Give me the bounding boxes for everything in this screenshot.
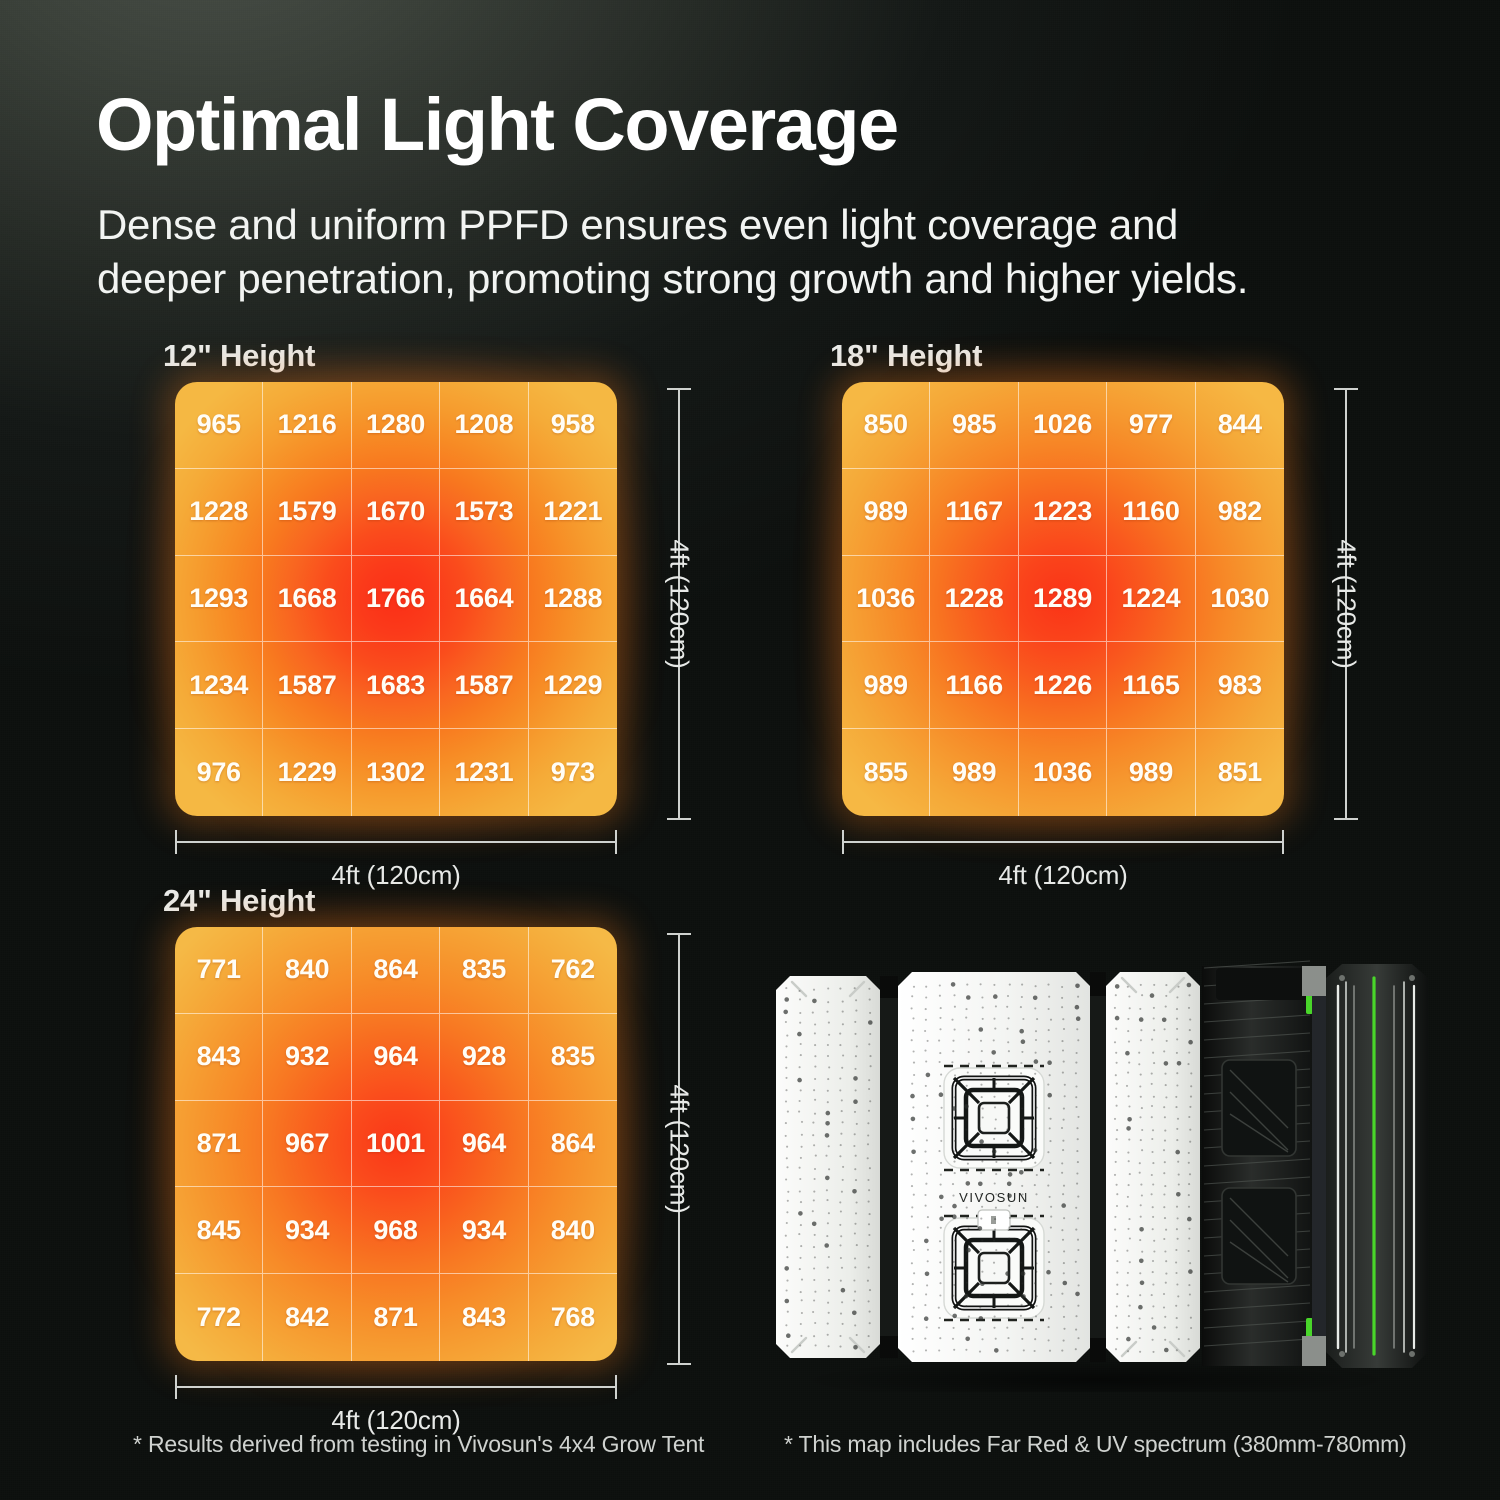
dimension-cap-bottom [667,1363,691,1365]
panel-title-12in: 12" Height [163,338,315,374]
heatmap-cell: 1587 [263,642,351,729]
height-dimension-label-18in: 4ft (120cm) [1331,531,1362,676]
height-dimension-18in: 4ft (120cm) [1316,388,1376,820]
heatmap-cell: 1579 [263,469,351,556]
heatmap-cell: 1216 [263,382,351,469]
heatmap-cell: 982 [1196,469,1284,556]
heatmap-cell: 989 [930,729,1018,816]
heatmap-cell: 968 [352,1187,440,1274]
heatmap-cell: 1229 [263,729,351,816]
heatmap-cell: 973 [529,729,617,816]
heatmap-cell: 864 [529,1101,617,1188]
dimension-cap-bottom [1334,818,1358,820]
heatmap-wrap-18in: 8509851026977844989116712231160982103612… [842,382,1284,816]
heatmap-cell: 840 [263,927,351,1014]
heatmap-cell: 1226 [1019,642,1107,729]
heatmap-cell: 983 [1196,642,1284,729]
heatmap-cell: 1208 [440,382,528,469]
subtitle-line-1: Dense and uniform PPFD ensures even ligh… [97,198,1417,252]
heatmap-cell: 977 [1107,382,1195,469]
heatmap-cell: 967 [263,1101,351,1188]
heatmap-cell: 1036 [842,556,930,643]
heatmap-cell: 1683 [352,642,440,729]
heatmap-cell: 864 [352,927,440,1014]
heatmap-cell: 1228 [930,556,1018,643]
heatmap-cell: 842 [263,1274,351,1361]
heatmap-cell: 1302 [352,729,440,816]
heatmap-cell: 1229 [529,642,617,729]
heatmap-wrap-12in: 9651216128012089581228157916701573122112… [175,382,617,816]
width-dimension-18in: 4ft (120cm) [842,830,1284,854]
heatmap-cell: 843 [440,1274,528,1361]
dimension-cap-bottom [667,818,691,820]
product-brand-label: VIVOSUN [959,1190,1029,1205]
heatmap-cell: 855 [842,729,930,816]
dimension-cap-top [667,388,691,390]
heatmap-cell: 928 [440,1014,528,1101]
heatmap-cell: 772 [175,1274,263,1361]
heatmap-cell: 1664 [440,556,528,643]
heatmap-cell: 958 [529,382,617,469]
width-dimension-12in: 4ft (120cm) [175,830,617,854]
dimension-cap-left [175,1375,177,1399]
heatmap-cell: 835 [529,1014,617,1101]
dimension-cap-left [842,830,844,854]
dimension-cap-right [615,1375,617,1399]
subtitle-line-2: deeper penetration, promoting strong gro… [97,252,1417,306]
heatmap-cell: 1030 [1196,556,1284,643]
heatmap-cell: 851 [1196,729,1284,816]
heatmap-cell: 1026 [1019,382,1107,469]
heatmap-cell: 1036 [1019,729,1107,816]
heatmap-cell: 1280 [352,382,440,469]
height-dimension-24in: 4ft (120cm) [649,933,709,1365]
heatmap-cell: 1668 [263,556,351,643]
heatmap-cell: 843 [175,1014,263,1101]
heatmap-cell: 1587 [440,642,528,729]
width-dimension-24in: 4ft (120cm) [175,1375,617,1399]
dimension-cap-top [667,933,691,935]
heatmap-cell: 1288 [529,556,617,643]
heatmap-cell: 1289 [1019,556,1107,643]
heatmap-grid-18in: 8509851026977844989116712231160982103612… [842,382,1284,816]
heatmap-cell: 1221 [529,469,617,556]
heatmap-cell: 1160 [1107,469,1195,556]
page-subtitle: Dense and uniform PPFD ensures even ligh… [97,198,1417,306]
heatmap-cell: 964 [352,1014,440,1101]
heatmap-cell: 934 [263,1187,351,1274]
heatmap-cell: 989 [842,642,930,729]
width-dimension-label-18in: 4ft (120cm) [998,860,1127,891]
heatmap-cell: 1231 [440,729,528,816]
heatmap-cell: 985 [930,382,1018,469]
dimension-cap-left [175,830,177,854]
page-title: Optimal Light Coverage [96,88,898,162]
panel-title-18in: 18" Height [830,338,982,374]
dimension-line [175,841,617,843]
heatmap-cell: 1001 [352,1101,440,1188]
heatmap-cell: 1228 [175,469,263,556]
heatmap-cell: 965 [175,382,263,469]
heatmap-cell: 1573 [440,469,528,556]
heatmap-cell: 976 [175,729,263,816]
heatmap-grid-24in: 7718408648357628439329649288358719671001… [175,927,617,1361]
heatmap-cell: 934 [440,1187,528,1274]
heatmap-cell: 1224 [1107,556,1195,643]
heatmap-cell: 844 [1196,382,1284,469]
heatmap-cell: 1165 [1107,642,1195,729]
heatmap-cell: 771 [175,927,263,1014]
heatmap-grid-12in: 9651216128012089581228157916701573122112… [175,382,617,816]
heatmap-cell: 989 [842,469,930,556]
height-dimension-label-24in: 4ft (120cm) [664,1076,695,1221]
heatmap-cell: 871 [175,1101,263,1188]
grow-light-illustration: VIVOSUN [746,952,1446,1392]
heatmap-cell: 1766 [352,556,440,643]
note-left: * Results derived from testing in Vivosu… [133,1431,704,1458]
page-root: Optimal Light Coverage Dense and uniform… [0,0,1500,1500]
heatmap-wrap-24in: 7718408648357628439329649288358719671001… [175,927,617,1361]
heatmap-cell: 1167 [930,469,1018,556]
heatmap-cell: 989 [1107,729,1195,816]
heatmap-cell: 835 [440,927,528,1014]
heatmap-cell: 845 [175,1187,263,1274]
heatmap-cell: 850 [842,382,930,469]
dimension-line [842,841,1284,843]
heatmap-cell: 871 [352,1274,440,1361]
product-image-grow-light: VIVOSUN [746,952,1446,1392]
heatmap-cell: 932 [263,1014,351,1101]
heatmap-cell: 1166 [930,642,1018,729]
height-dimension-label-12in: 4ft (120cm) [664,531,695,676]
dimension-cap-top [1334,388,1358,390]
heatmap-cell: 840 [529,1187,617,1274]
heatmap-cell: 964 [440,1101,528,1188]
height-dimension-12in: 4ft (120cm) [649,388,709,820]
dimension-cap-right [1282,830,1284,854]
dimension-cap-right [615,830,617,854]
heatmap-cell: 1293 [175,556,263,643]
heatmap-cell: 1670 [352,469,440,556]
heatmap-cell: 768 [529,1274,617,1361]
dimension-line [175,1386,617,1388]
heatmap-cell: 762 [529,927,617,1014]
panel-title-24in: 24" Height [163,883,315,919]
heatmap-cell: 1234 [175,642,263,729]
note-right: * This map includes Far Red & UV spectru… [784,1431,1407,1458]
heatmap-cell: 1223 [1019,469,1107,556]
width-dimension-label-12in: 4ft (120cm) [331,860,460,891]
